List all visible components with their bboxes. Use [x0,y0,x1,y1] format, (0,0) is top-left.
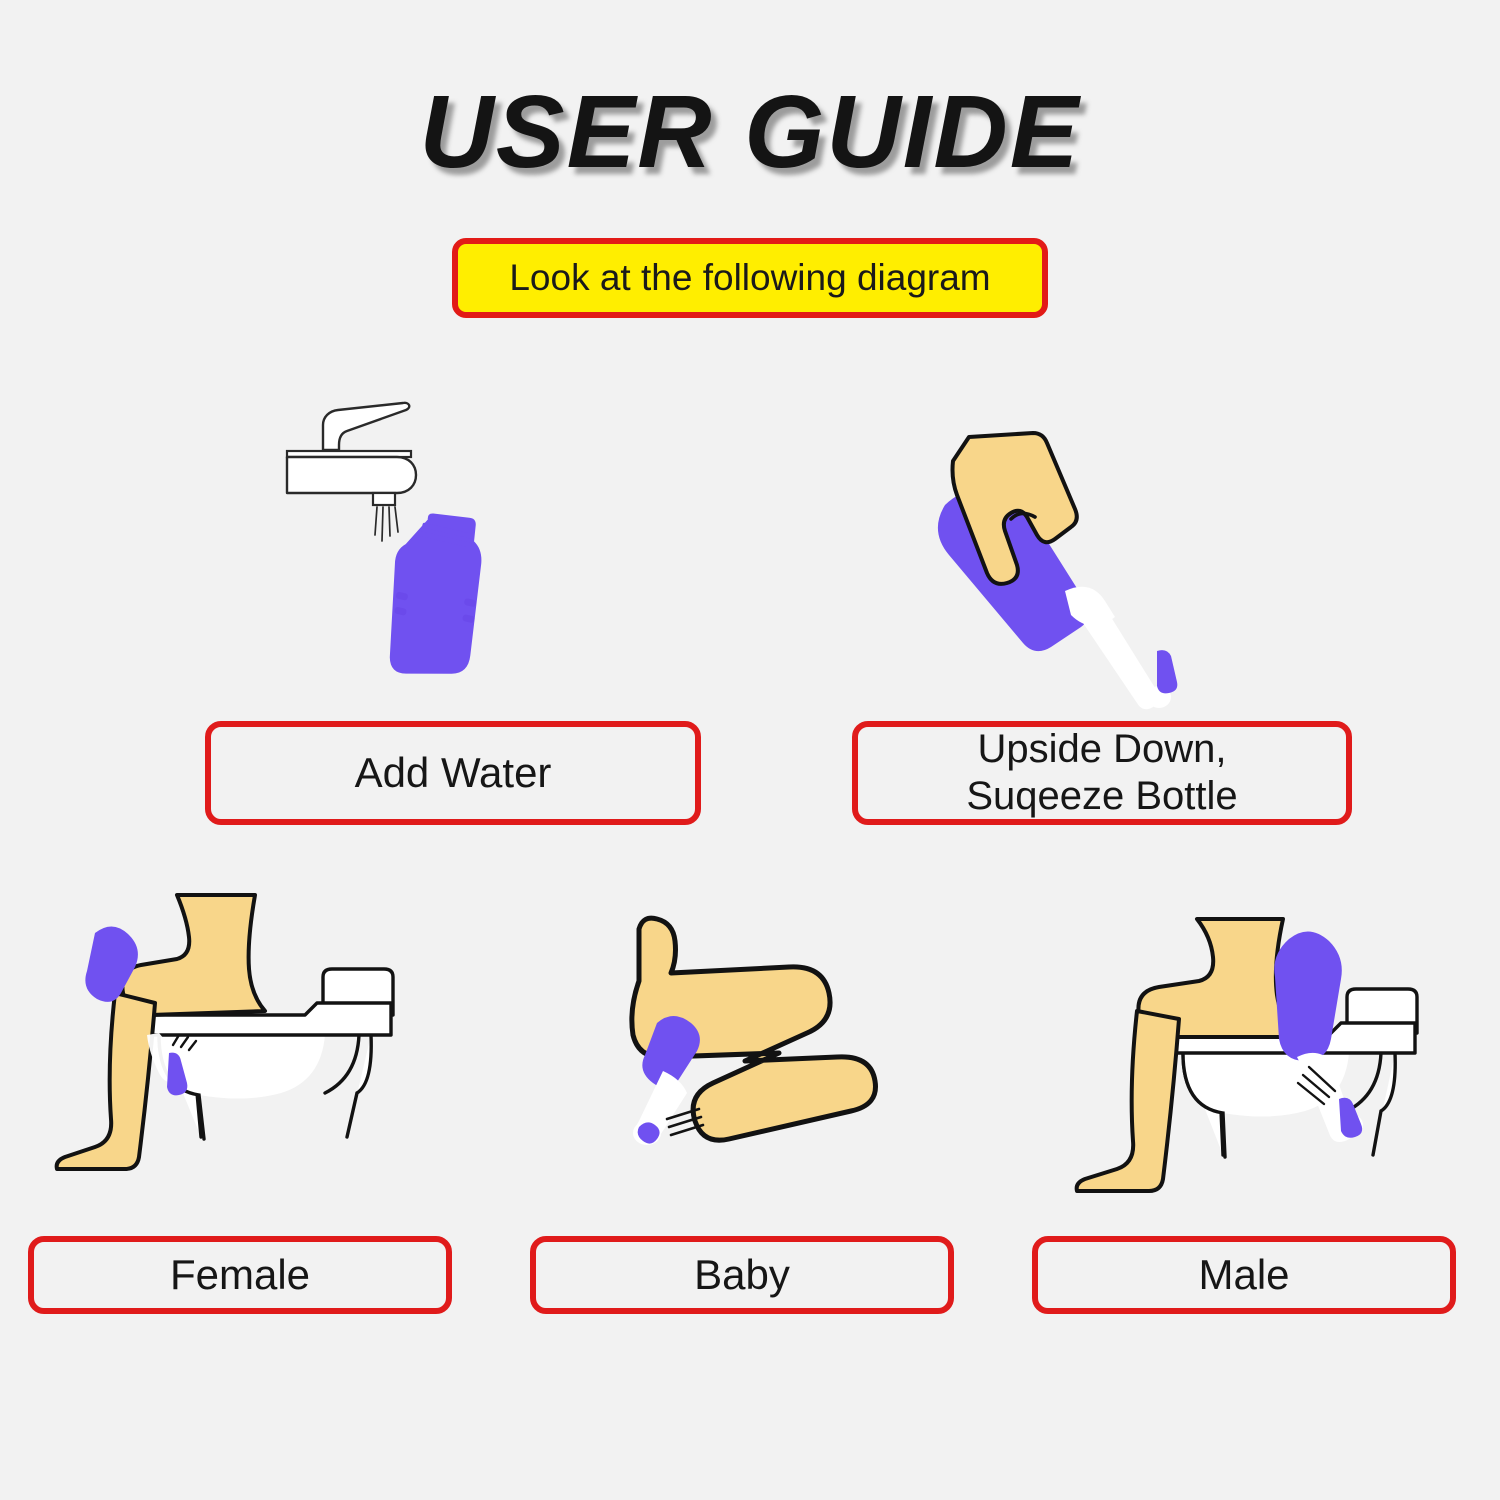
step-label-upside-down-line2: Suqeeze Bottle [966,774,1237,818]
usage-label-female-text: Female [170,1250,310,1300]
baby-lying-legs-up-icon [605,895,915,1185]
page-title: USER GUIDE [0,78,1500,186]
user-guide-page: USER GUIDE Look at the following diagram [0,0,1500,1500]
usage-label-female: Female [28,1236,452,1314]
step-label-add-water: Add Water [205,721,701,825]
instruction-banner-label: Look at the following diagram [509,257,990,299]
instruction-banner: Look at the following diagram [452,238,1048,318]
male-seated-toilet-icon [1065,885,1435,1185]
step-label-upside-down-squeeze: Upside Down, Suqeeze Bottle [852,721,1352,825]
step-label-upside-down-text: Upside Down, Suqeeze Bottle [966,726,1237,820]
usage-label-baby: Baby [530,1236,954,1314]
usage-label-baby-text: Baby [694,1250,790,1300]
usage-label-male-text: Male [1198,1250,1289,1300]
hand-squeezing-inverted-bottle-icon [915,405,1225,715]
usage-label-male: Male [1032,1236,1456,1314]
step-label-upside-down-line1: Upside Down, [977,727,1226,771]
faucet-filling-bottle-icon [285,395,555,685]
female-seated-toilet-icon [55,885,425,1185]
step-label-add-water-text: Add Water [355,748,552,798]
